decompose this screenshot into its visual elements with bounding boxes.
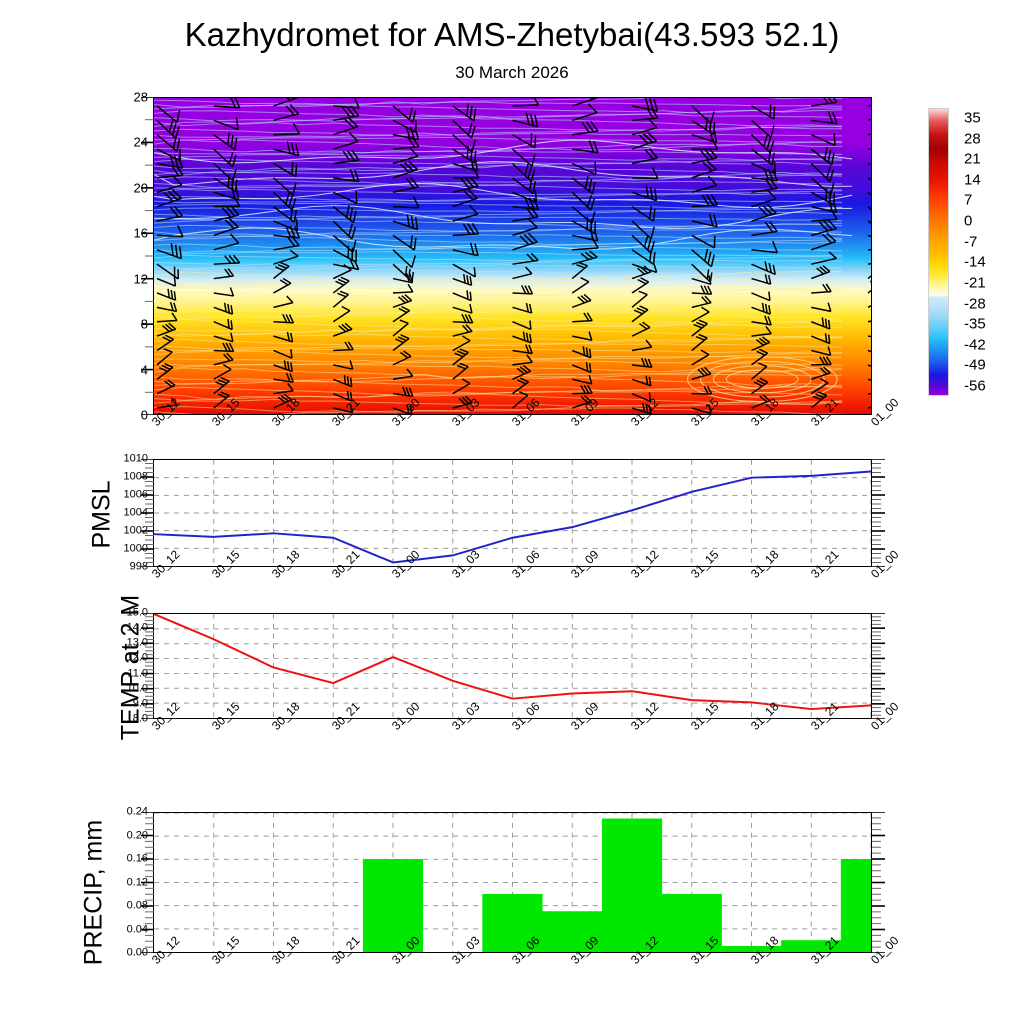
precip-canvas	[154, 813, 871, 952]
precip-axis-title: PRECIP, mm	[80, 783, 109, 1003]
colorbar-tick-label: -14	[964, 255, 986, 270]
colorbar-tick-label: -7	[964, 234, 977, 249]
colorbar-tick-label: -56	[964, 379, 986, 394]
colorbar-tick-label: 35	[964, 111, 981, 126]
axis-minor-ticks	[141, 613, 154, 719]
figure-root: Kazhydromet for AMS-Zhetybai(43.593 52.1…	[0, 0, 1024, 1024]
colorbar-tick-label: 0	[964, 214, 972, 229]
pmsl-canvas	[154, 460, 871, 566]
pmsl-panel	[153, 459, 872, 567]
axis-minor-ticks	[141, 97, 154, 415]
temperature-colorbar	[928, 108, 949, 396]
colorbar-tick-label: -35	[964, 317, 986, 332]
vertical-profile-panel	[153, 97, 872, 415]
precip-panel	[153, 812, 872, 953]
page-subtitle: 30 March 2026	[0, 63, 1024, 83]
pmsl-axis-title: PMSL	[88, 455, 117, 575]
axis-minor-ticks	[141, 812, 154, 953]
temp-2m-panel	[153, 613, 872, 719]
colorbar-tick-label: -49	[964, 358, 986, 373]
colorbar-tick-label: -21	[964, 275, 986, 290]
xtick-label: 01_00	[868, 395, 901, 428]
axis-minor-ticks-right	[872, 459, 885, 567]
colorbar-tick-label: 28	[964, 131, 981, 146]
axis-minor-ticks-right	[872, 812, 885, 953]
axis-minor-ticks	[141, 459, 154, 567]
colorbar-tick-label: -42	[964, 337, 986, 352]
axis-minor-ticks-right	[872, 613, 885, 719]
vertical-profile-canvas	[154, 98, 871, 414]
colorbar-tick-label: 7	[964, 193, 972, 208]
colorbar-gradient	[928, 108, 949, 396]
temp-2m-canvas	[154, 614, 871, 718]
colorbar-tick-label: 21	[964, 152, 981, 167]
colorbar-tick-label: 14	[964, 172, 981, 187]
page-title: Kazhydromet for AMS-Zhetybai(43.593 52.1…	[0, 16, 1024, 54]
colorbar-tick-label: -28	[964, 296, 986, 311]
